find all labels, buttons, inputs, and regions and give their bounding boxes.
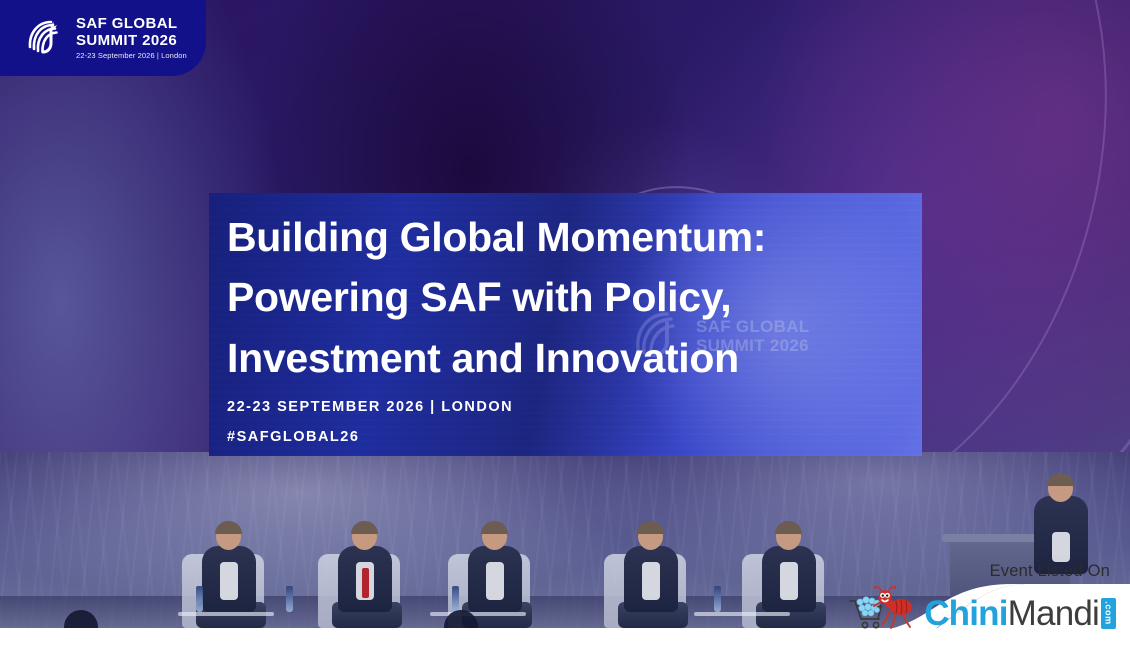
event-date-location: 22-23 SEPTEMBER 2026 | LONDON — [227, 399, 513, 415]
badge-content: Event Listed On — [834, 550, 1116, 642]
brand-line-1: SAF GLOBAL — [76, 16, 187, 31]
headline-line-1: Building Global Momentum: — [227, 207, 922, 267]
event-banner: SAF GLOBAL SUMMIT 2026 22-23 September 2… — [0, 0, 1130, 650]
chinimandi-logo[interactable]: Chini Mandi .com — [846, 585, 1116, 631]
hero-meta: 22-23 SEPTEMBER 2026 | LONDON #SAFGLOBAL… — [209, 398, 922, 445]
water-bottle — [196, 586, 203, 612]
side-table — [178, 612, 274, 616]
saf-globe-swirl-icon — [22, 16, 66, 60]
water-bottle — [286, 586, 293, 612]
event-listed-badge[interactable]: Event Listed On — [812, 542, 1130, 650]
brand-line-2: SUMMIT 2026 — [76, 33, 187, 48]
hero-headline-panel: SAF GLOBAL SUMMIT 2026 Building Global M… — [209, 193, 922, 456]
dotcom-text: .com — [1104, 601, 1114, 624]
wordmark-chini: Chini — [924, 597, 1007, 630]
water-bottle — [452, 586, 459, 612]
event-hashtag: #SAFGLOBAL26 — [227, 429, 922, 445]
summit-logo-bar[interactable]: SAF GLOBAL SUMMIT 2026 22-23 September 2… — [0, 0, 206, 76]
headline-line-2: Powering SAF with Policy, — [227, 267, 922, 327]
ant-with-sugar-cart-icon — [846, 585, 918, 631]
chinimandi-wordmark: Chini Mandi .com — [924, 597, 1116, 630]
hero-headline: Building Global Momentum: Powering SAF w… — [209, 193, 922, 388]
brand-subtitle: 22-23 September 2026 | London — [76, 52, 187, 60]
headline-line-3: Investment and Innovation — [227, 328, 922, 388]
event-listed-label: Event Listed On — [990, 562, 1110, 581]
water-bottle — [714, 586, 721, 612]
side-table — [430, 612, 526, 616]
side-table — [694, 612, 790, 616]
dotcom-badge: .com — [1101, 598, 1116, 629]
summit-brand-text: SAF GLOBAL SUMMIT 2026 22-23 September 2… — [76, 16, 187, 60]
wordmark-mandi: Mandi — [1008, 597, 1099, 630]
